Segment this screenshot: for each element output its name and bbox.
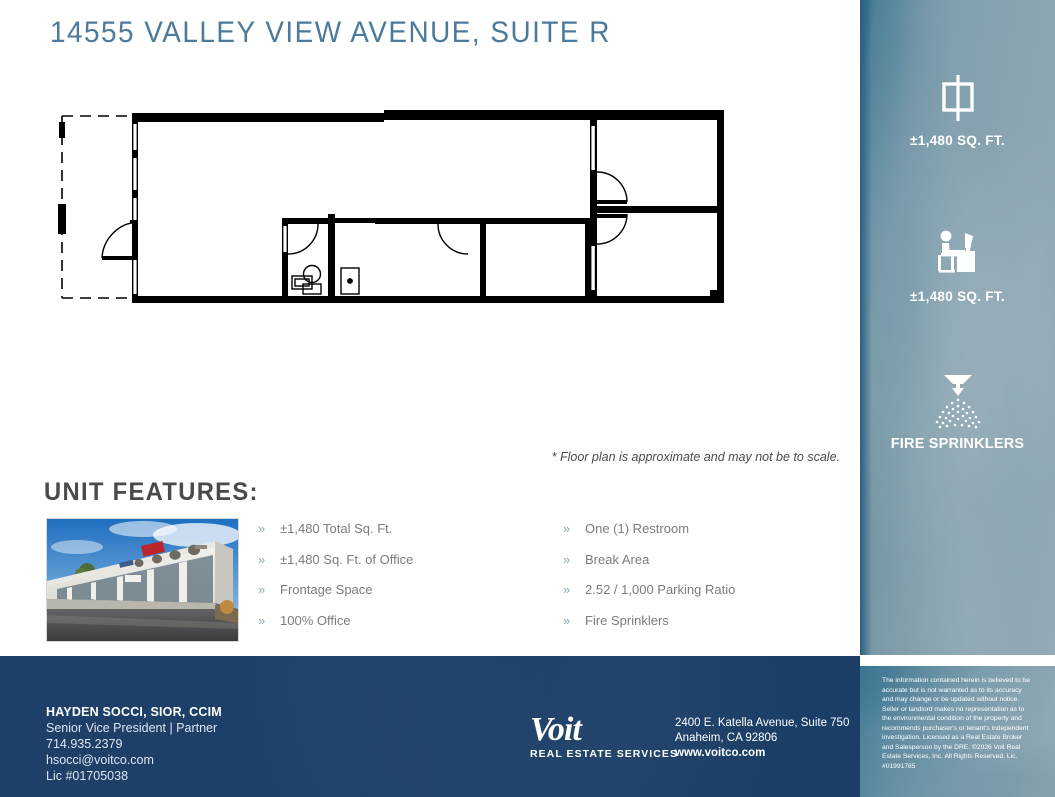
floor-plan-note: * Floor plan is approximate and may not … (552, 450, 840, 464)
bullet-icon: » (563, 553, 585, 568)
agent-name: HAYDEN SOCCI, SIOR, CCIM (46, 705, 222, 719)
agent-phone[interactable]: 714.935.2379 (46, 737, 222, 751)
disclaimer-panel: The information contained herein is beli… (860, 666, 1055, 797)
list-item: » 100% Office (258, 614, 538, 645)
list-item: » Fire Sprinklers (563, 614, 863, 645)
agent-license: Lic #01705038 (46, 769, 222, 783)
sidebar-block-office-area: ±1,480 SQ. FT. (860, 228, 1055, 304)
bullet-icon: » (563, 583, 585, 598)
floor-plan-icon (50, 108, 740, 308)
features-column-left: » ±1,480 Total Sq. Ft. » ±1,480 Sq. Ft. … (258, 522, 538, 644)
address-line-2: Anaheim, CA 92806 (675, 732, 849, 744)
list-item: » Frontage Space (258, 583, 538, 614)
sidebar-block-total-area: ±1,480 SQ. FT. (860, 72, 1055, 148)
fire-sprinkler-icon (860, 375, 1055, 427)
page-title: 14555 VALLEY VIEW AVENUE, SUITE R (50, 16, 611, 50)
agent-email[interactable]: hsocci@voitco.com (46, 753, 222, 767)
address-line-1: 2400 E. Katella Avenue, Suite 750 (675, 717, 849, 729)
features-column-right: » One (1) Restroom » Break Area » 2.52 /… (563, 522, 863, 644)
bullet-icon: » (258, 614, 280, 629)
page-footer: HAYDEN SOCCI, SIOR, CCIM Senior Vice Pre… (0, 656, 860, 797)
building-area-icon (860, 72, 1055, 124)
list-item: » ±1,480 Sq. Ft. of Office (258, 553, 538, 584)
agent-title: Senior Vice President | Partner (46, 721, 222, 735)
list-item: » ±1,480 Total Sq. Ft. (258, 522, 538, 553)
agent-contact-block: HAYDEN SOCCI, SIOR, CCIM Senior Vice Pre… (46, 705, 222, 783)
sidebar-label: ±1,480 SQ. FT. (860, 289, 1055, 304)
sidebar-label: ±1,480 SQ. FT. (860, 133, 1055, 148)
property-photo (46, 518, 239, 642)
bullet-icon: » (258, 553, 280, 568)
list-item: » 2.52 / 1,000 Parking Ratio (563, 583, 863, 614)
office-desk-icon (860, 228, 1055, 280)
sidebar-block-fire-sprinklers: FIRE SPRINKLERS (860, 375, 1055, 452)
bullet-icon: » (258, 522, 280, 537)
features-sidebar: ±1,480 SQ. FT. (860, 0, 1055, 655)
voit-wordmark: Voit (530, 714, 678, 746)
voit-logo[interactable]: Voit REAL ESTATE SERVICES (530, 714, 678, 760)
list-item: » Break Area (563, 553, 863, 584)
bullet-icon: » (563, 614, 585, 629)
bullet-icon: » (563, 522, 585, 537)
floor-plan-diagram (50, 108, 740, 308)
sidebar-label: FIRE SPRINKLERS (860, 436, 1055, 452)
company-address: 2400 E. Katella Avenue, Suite 750 Anahei… (675, 717, 849, 762)
brochure-page: 14555 VALLEY VIEW AVENUE, SUITE R (0, 0, 1055, 797)
voit-tagline: REAL ESTATE SERVICES (530, 748, 678, 760)
unit-features-heading: UNIT FEATURES: (44, 478, 259, 507)
building-photo-illustration (47, 519, 238, 641)
list-item: » One (1) Restroom (563, 522, 863, 553)
bullet-icon: » (258, 583, 280, 598)
company-website[interactable]: www.voitco.com (675, 747, 849, 759)
disclaimer-text: The information contained herein is beli… (882, 676, 1033, 771)
